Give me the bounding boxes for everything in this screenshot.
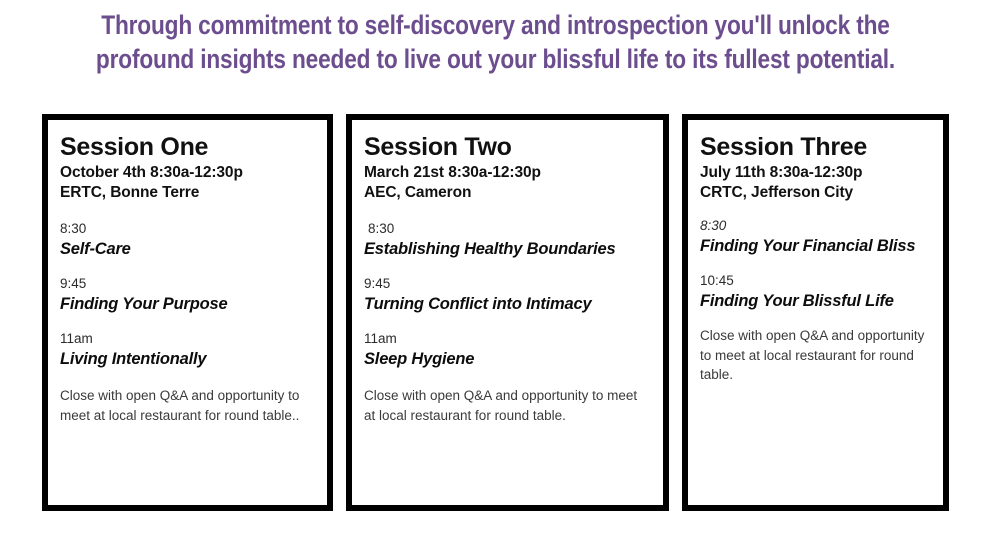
agenda-item: 11am Living Intentionally bbox=[60, 330, 315, 370]
agenda-topic: Finding Your Financial Bliss bbox=[700, 236, 931, 257]
agenda-topic: Sleep Hygiene bbox=[364, 349, 651, 370]
agenda-time: 11am bbox=[364, 330, 651, 348]
session-agenda-list: 8:30 Establishing Healthy Boundaries 9:4… bbox=[364, 220, 651, 370]
agenda-item: 9:45 Finding Your Purpose bbox=[60, 275, 315, 315]
agenda-topic: Finding Your Purpose bbox=[60, 294, 315, 315]
session-card-row: Session One October 4th 8:30a-12:30p ERT… bbox=[42, 114, 949, 511]
session-agenda-list: 8:30 Finding Your Financial Bliss 10:45 … bbox=[700, 217, 931, 312]
session-venue: ERTC, Bonne Terre bbox=[60, 183, 315, 203]
agenda-item: 8:30 Self-Care bbox=[60, 220, 315, 260]
agenda-item: 8:30 Finding Your Financial Bliss bbox=[700, 217, 931, 257]
agenda-topic: Living Intentionally bbox=[60, 349, 315, 370]
agenda-item: 11am Sleep Hygiene bbox=[364, 330, 651, 370]
agenda-time: 9:45 bbox=[364, 275, 651, 293]
agenda-item: 9:45 Turning Conflict into Intimacy bbox=[364, 275, 651, 315]
session-venue: AEC, Cameron bbox=[364, 183, 651, 203]
session-date: July 11th 8:30a-12:30p bbox=[700, 163, 931, 183]
page-headline: Through commitment to self-discovery and… bbox=[79, 8, 911, 76]
session-card-two: Session Two March 21st 8:30a-12:30p AEC,… bbox=[346, 114, 669, 511]
agenda-topic: Finding Your Blissful Life bbox=[700, 291, 931, 312]
agenda-time: 8:30 bbox=[60, 220, 315, 238]
agenda-time: 10:45 bbox=[700, 272, 931, 290]
agenda-time: 8:30 bbox=[364, 220, 651, 238]
agenda-time: 8:30 bbox=[700, 217, 931, 235]
session-title: Session Two bbox=[364, 132, 651, 162]
closing-note: Close with open Q&A and opportunity to m… bbox=[364, 386, 651, 425]
session-title: Session Three bbox=[700, 132, 931, 162]
agenda-time: 9:45 bbox=[60, 275, 315, 293]
session-card-one: Session One October 4th 8:30a-12:30p ERT… bbox=[42, 114, 333, 511]
headline-line-1: Through commitment to self-discovery and… bbox=[79, 8, 911, 42]
closing-note: Close with open Q&A and opportunity to m… bbox=[700, 326, 931, 385]
session-agenda-list: 8:30 Self-Care 9:45 Finding Your Purpose… bbox=[60, 220, 315, 370]
session-title: Session One bbox=[60, 132, 315, 162]
agenda-topic: Turning Conflict into Intimacy bbox=[364, 294, 651, 315]
session-card-three: Session Three July 11th 8:30a-12:30p CRT… bbox=[682, 114, 949, 511]
agenda-time: 11am bbox=[60, 330, 315, 348]
headline-line-2: profound insights needed to live out you… bbox=[79, 42, 911, 76]
agenda-item: 10:45 Finding Your Blissful Life bbox=[700, 272, 931, 312]
agenda-topic: Establishing Healthy Boundaries bbox=[364, 239, 651, 260]
schedule-page: Through commitment to self-discovery and… bbox=[0, 0, 991, 534]
closing-note: Close with open Q&A and opportunity to m… bbox=[60, 386, 315, 425]
session-date: March 21st 8:30a-12:30p bbox=[364, 163, 651, 183]
session-date: October 4th 8:30a-12:30p bbox=[60, 163, 315, 183]
agenda-topic: Self-Care bbox=[60, 239, 315, 260]
agenda-item: 8:30 Establishing Healthy Boundaries bbox=[364, 220, 651, 260]
session-venue: CRTC, Jefferson City bbox=[700, 183, 931, 203]
